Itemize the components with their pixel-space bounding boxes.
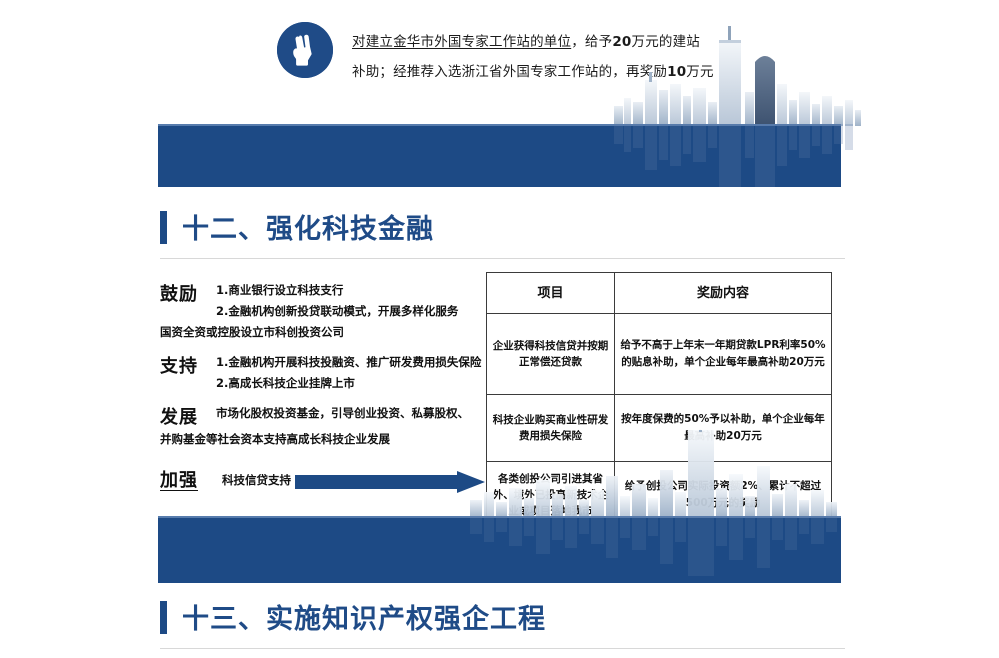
- policy-line: 2.金融机构创新投贷联动模式，开展多样化服务: [216, 301, 474, 322]
- blue-band-mid: [158, 516, 841, 583]
- banner-line2-prefix: 补助；经推荐入选浙江省外国专家工作站的，再奖励: [352, 64, 667, 80]
- table-cell-reward: 给予不高于上年末一年期贷款LPR利率50%的贴息补助，单个企业每年最高补助20万…: [615, 314, 832, 395]
- banner-line-1: 对建立金华市外国专家工作站的单位，给予20万元的建站: [352, 27, 752, 57]
- policy-line: 市场化股权投资基金，引导创业投资、私募股权、: [216, 403, 474, 424]
- victory-hand-icon: [277, 22, 333, 78]
- top-banner: 对建立金华市外国专家工作站的单位，给予20万元的建站 补助；经推荐入选浙江省外国…: [0, 0, 999, 190]
- policy-line-overflow: 国资全资或控股设立市科创投资公司: [160, 322, 480, 343]
- policy-group-strengthen: 加强 科技信贷支持: [160, 466, 490, 496]
- table-header-item: 项目: [487, 273, 615, 314]
- heading-divider-13: [160, 648, 845, 649]
- policy-list: 鼓励 1.商业银行设立科技支行 2.金融机构创新投贷联动模式，开展多样化服务 国…: [160, 280, 480, 459]
- blue-band-top-highlight: [158, 124, 841, 126]
- banner-line2-suffix: 万元: [686, 64, 713, 80]
- policy-group-label: 加强: [160, 466, 216, 492]
- table-cell-item: 企业获得科技信贷并按期正常偿还贷款: [487, 314, 615, 395]
- banner-line1-mid: ，给予: [571, 34, 612, 50]
- banner-text: 对建立金华市外国专家工作站的单位，给予20万元的建站 补助；经推荐入选浙江省外国…: [352, 27, 752, 87]
- policy-group-caption: 科技信贷支持: [222, 472, 291, 488]
- policy-line: 1.商业银行设立科技支行: [216, 280, 474, 301]
- right-arrow-icon: [295, 471, 485, 493]
- policy-group-support: 支持 1.金融机构开展科技投融资、推广研发费用损失保险 2.高成长科技企业挂牌上…: [160, 352, 480, 394]
- policy-group-develop: 发展 市场化股权投资基金，引导创业投资、私募股权、 并购基金等社会资本支持高成长…: [160, 403, 480, 450]
- policy-group-body: 1.金融机构开展科技投融资、推广研发费用损失保险 2.高成长科技企业挂牌上市: [216, 352, 474, 394]
- policy-group-body: 1.商业银行设立科技支行 2.金融机构创新投贷联动模式，开展多样化服务: [216, 280, 474, 322]
- table-row: 企业获得科技信贷并按期正常偿还贷款 给予不高于上年末一年期贷款LPR利率50%的…: [487, 314, 832, 395]
- banner-line1-suffix: 万元的建站: [632, 34, 701, 50]
- heading-accent-bar: [160, 211, 167, 244]
- policy-group-body: 市场化股权投资基金，引导创业投资、私募股权、: [216, 403, 474, 424]
- table-header-row: 项目 奖励内容: [487, 273, 832, 314]
- heading-divider-12: [160, 258, 845, 259]
- table-cell-item: 科技企业购买商业性研发费用损失保险: [487, 395, 615, 462]
- blue-band-top: [158, 124, 841, 187]
- page-title-12: 十二、强化科技金融: [182, 207, 434, 246]
- slide-page: 对建立金华市外国专家工作站的单位，给予20万元的建站 补助；经推荐入选浙江省外国…: [0, 0, 999, 658]
- policy-group-label: 支持: [160, 352, 216, 378]
- blue-band-mid-highlight: [158, 516, 841, 518]
- policy-line: 2.高成长科技企业挂牌上市: [216, 373, 474, 394]
- policy-group-encourage: 鼓励 1.商业银行设立科技支行 2.金融机构创新投贷联动模式，开展多样化服务 国…: [160, 280, 480, 343]
- table-header-reward: 奖励内容: [615, 273, 832, 314]
- table-row: 科技企业购买商业性研发费用损失保险 按年度保费的50%予以补助，单个企业每年最高…: [487, 395, 832, 462]
- banner-line2-amount: 10: [667, 64, 686, 80]
- banner-line1-underlined: 对建立金华市外国专家工作站的单位: [352, 34, 571, 50]
- policy-group-label: 鼓励: [160, 280, 216, 306]
- banner-line-2: 补助；经推荐入选浙江省外国专家工作站的，再奖励10万元: [352, 57, 752, 87]
- policy-group-label: 发展: [160, 403, 216, 429]
- reward-table: 项目 奖励内容 企业获得科技信贷并按期正常偿还贷款 给予不高于上年末一年期贷款L…: [486, 272, 832, 529]
- table-cell-reward: 按年度保费的50%予以补助，单个企业每年最高补助20万元: [615, 395, 832, 462]
- heading-accent-bar: [160, 601, 167, 634]
- policy-line-overflow: 并购基金等社会资本支持高成长科技企业发展: [160, 429, 480, 450]
- policy-line: 1.金融机构开展科技投融资、推广研发费用损失保险: [216, 352, 474, 373]
- banner-line1-amount: 20: [612, 34, 631, 50]
- page-title-13: 十三、实施知识产权强企工程: [182, 597, 546, 636]
